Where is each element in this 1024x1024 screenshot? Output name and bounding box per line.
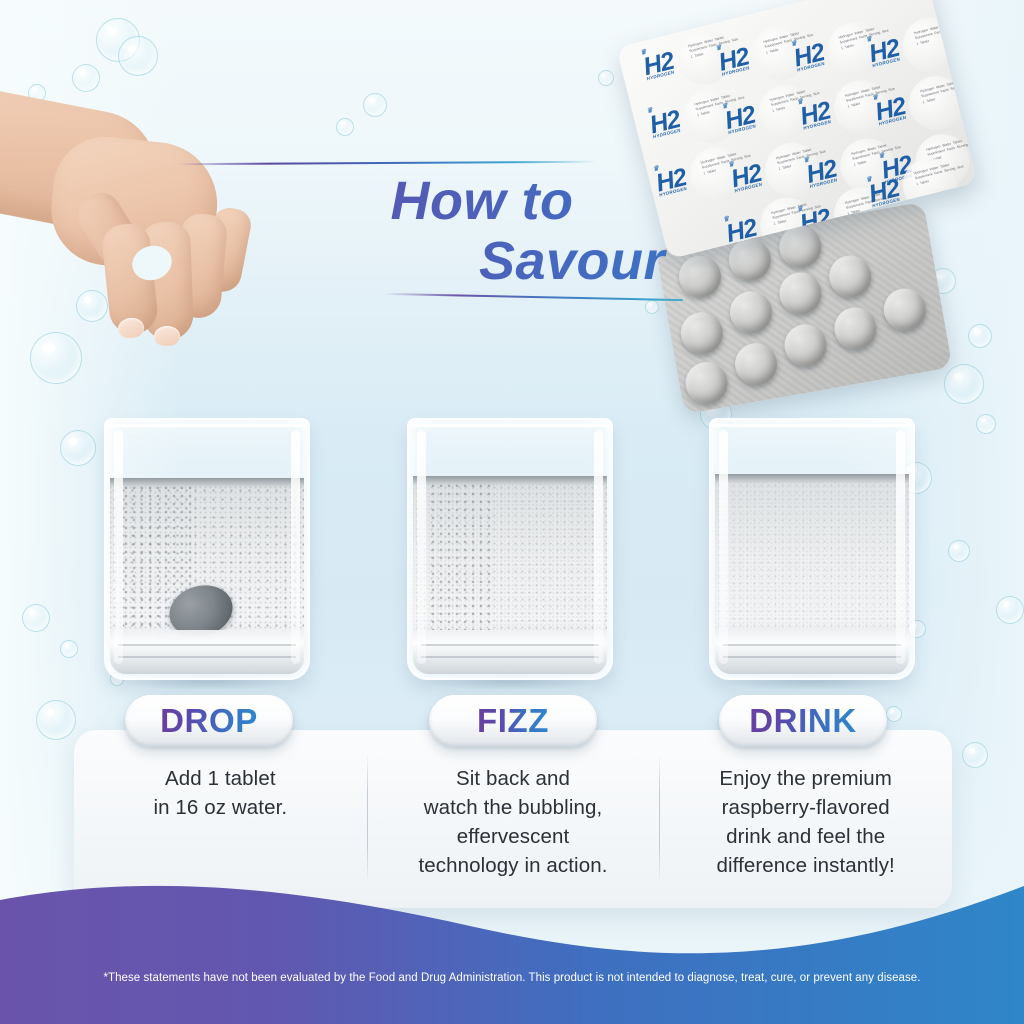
bubble-icon (944, 364, 984, 404)
brand-subtext: HYDROGEN (797, 58, 843, 73)
fda-disclaimer: *These statements have not been evaluate… (0, 972, 1024, 984)
glass-highlight-left (417, 430, 426, 664)
brand-subtext: HYDROGEN (728, 120, 774, 135)
bubble-icon (598, 70, 614, 86)
brand-subtext: HYDROGEN (722, 62, 768, 77)
bubble-icon (363, 93, 387, 117)
glass-step-fizz (407, 418, 613, 680)
blister-print-artwork: ♛H2HYDROGENHydrogen Water Tablet Supplem… (616, 0, 925, 48)
step-badge-fizz[interactable]: FIZZ (429, 695, 597, 747)
brand-subtext: HYDROGEN (872, 53, 918, 68)
step-badge-drop-label: DROP (160, 702, 258, 740)
bubble-icon (336, 118, 354, 136)
glass-rim (713, 424, 911, 427)
brand-subtext: HYDROGEN (659, 183, 705, 198)
tablet-dome (676, 252, 725, 301)
brand-subtext: HYDROGEN (809, 174, 855, 189)
step-description-drop: Add 1 tablet in 16 oz water. (153, 764, 287, 822)
glass-highlight-left (114, 430, 123, 664)
fingernail (117, 317, 145, 340)
tablet-dome (831, 304, 880, 353)
glass-body (407, 418, 613, 680)
bubble-icon (22, 604, 50, 632)
bubble-icon (60, 430, 96, 466)
infographic-canvas: ♛H2HYDROGENHydrogen Water Tablet Supplem… (0, 0, 1024, 1024)
brand-logo-h2: ♛H2HYDROGEN (640, 39, 694, 89)
step-description-drink: Enjoy the premium raspberry-flavored dri… (717, 764, 895, 880)
brand-logo-h2: ♛H2HYDROGEN (652, 155, 706, 205)
base-ring (723, 656, 901, 658)
bubble-icon (60, 640, 78, 658)
glass-base (413, 630, 607, 674)
step-badge-fizz-label: FIZZ (477, 702, 549, 740)
bubble-icon (118, 36, 158, 76)
bubble-icon (645, 300, 659, 314)
step-badge-drink-label: DRINK (749, 702, 857, 740)
brand-subtext: HYDROGEN (734, 178, 780, 193)
hand-illustration (0, 96, 252, 361)
bubble-icon (996, 596, 1024, 624)
brand-subtext: HYDROGEN (878, 111, 924, 126)
crown-icon: ♛ (652, 155, 698, 173)
glass-base (715, 630, 909, 674)
step-description-fizz: Sit back and watch the bubbling, efferve… (419, 764, 608, 880)
step-badge-drink[interactable]: DRINK (719, 695, 887, 747)
crown-icon: ♛ (646, 97, 692, 115)
glass-rim (411, 424, 609, 427)
glass-highlight-right (291, 430, 300, 664)
bubble-icon (962, 742, 988, 768)
tablet-dome (826, 252, 875, 301)
brand-logo-h2: ♛H2HYDROGEN (646, 97, 700, 147)
header-rule-bottom (383, 293, 683, 301)
bubble-icon (36, 700, 76, 740)
brand-subtext: HYDROGEN (653, 124, 699, 139)
bubble-icon (948, 540, 970, 562)
wave-shape (0, 886, 1024, 1024)
glass-base (110, 630, 304, 674)
footer-wave (0, 864, 1024, 1024)
glass-body (709, 418, 915, 680)
base-ring (421, 656, 599, 658)
bubble-icon (976, 414, 996, 434)
glass-highlight-right (594, 430, 603, 664)
fingernail (154, 326, 181, 347)
glass-highlight-left (719, 430, 728, 664)
tablet-dome (776, 269, 825, 318)
tablet-dome (677, 309, 726, 358)
base-ring (421, 644, 599, 646)
tablet-dome (732, 340, 781, 389)
glass-step-drop (104, 418, 310, 680)
base-ring (118, 644, 296, 646)
bubble-icon (968, 324, 992, 348)
bubble-icon (886, 706, 902, 722)
brand-subtext: HYDROGEN (646, 66, 692, 81)
tablet-dome (781, 321, 830, 370)
tablet-dome (727, 288, 776, 337)
tablet-dome (682, 359, 731, 408)
step-badge-drop[interactable]: DROP (125, 695, 293, 747)
bubble-stream (429, 482, 495, 634)
crown-icon: ♛ (722, 206, 768, 224)
glass-rim (108, 424, 306, 427)
glass-body (104, 418, 310, 680)
bubble-icon (72, 64, 100, 92)
glass-highlight-right (896, 430, 905, 664)
bubble-field (715, 482, 909, 638)
crown-icon: ♛ (640, 39, 686, 57)
glass-step-drink (709, 418, 915, 680)
tablet-dome (880, 285, 929, 334)
base-ring (723, 644, 901, 646)
brand-subtext: HYDROGEN (803, 116, 849, 131)
base-ring (118, 656, 296, 658)
